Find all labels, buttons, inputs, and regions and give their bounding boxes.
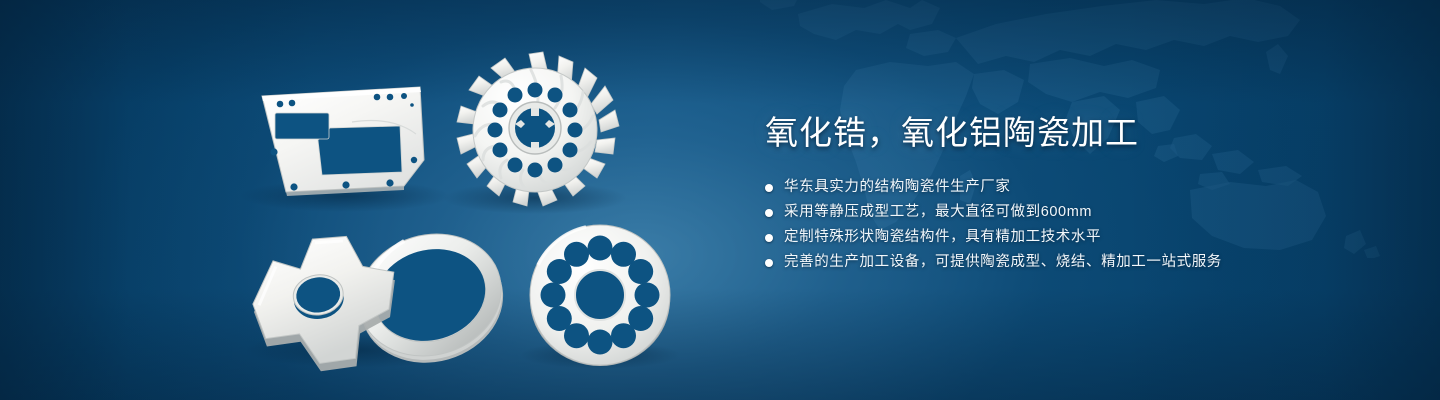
- page-title: 氧化锆，氧化铝陶瓷加工: [765, 112, 1385, 154]
- banner-copy: 氧化锆，氧化铝陶瓷加工 华东具实力的结构陶瓷件生产厂家 采用等静压成型工艺，最大…: [765, 112, 1385, 275]
- list-item: 采用等静压成型工艺，最大直径可做到600mm: [765, 200, 1385, 225]
- list-item: 完善的生产加工设备，可提供陶瓷成型、烧结、精加工一站式服务: [765, 250, 1385, 275]
- bullet-dot-icon: [765, 234, 773, 242]
- ceramic-hole-disc: [530, 225, 670, 366]
- bullet-dot-icon: [765, 184, 773, 192]
- feature-text: 完善的生产加工设备，可提供陶瓷成型、烧结、精加工一站式服务: [784, 250, 1222, 275]
- ceramic-impeller: [457, 52, 619, 206]
- product-banner: 氧化锆，氧化铝陶瓷加工 华东具实力的结构陶瓷件生产厂家 采用等静压成型工艺，最大…: [0, 0, 1440, 400]
- ceramic-machined-plate: [262, 87, 424, 196]
- bullet-dot-icon: [765, 209, 773, 217]
- ceramic-products-image: [0, 0, 740, 400]
- list-item: 华东具实力的结构陶瓷件生产厂家: [765, 175, 1385, 200]
- feature-list: 华东具实力的结构陶瓷件生产厂家 采用等静压成型工艺，最大直径可做到600mm 定…: [765, 175, 1385, 275]
- feature-text: 采用等静压成型工艺，最大直径可做到600mm: [784, 200, 1092, 225]
- feature-text: 华东具实力的结构陶瓷件生产厂家: [784, 175, 1011, 200]
- bullet-dot-icon: [765, 259, 773, 267]
- list-item: 定制特殊形状陶瓷结构件，具有精加工技术水平: [765, 225, 1385, 250]
- feature-text: 定制特殊形状陶瓷结构件，具有精加工技术水平: [784, 225, 1101, 250]
